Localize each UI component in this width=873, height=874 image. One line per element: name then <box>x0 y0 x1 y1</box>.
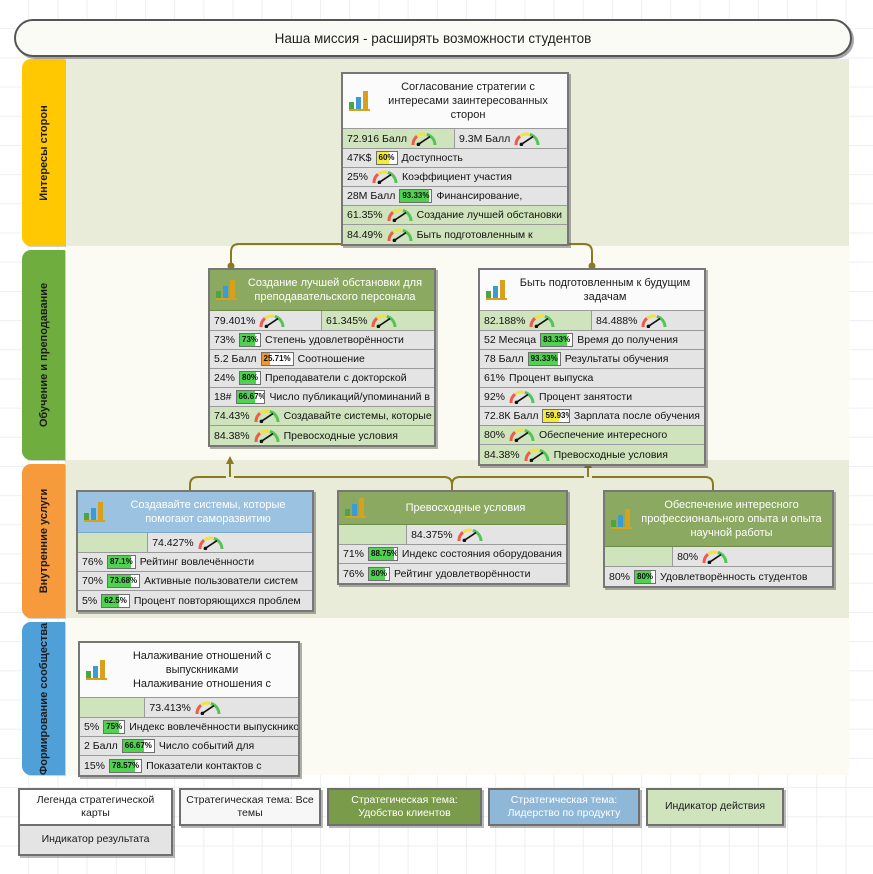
metric-row[interactable]: 84.38%Превосходные условия <box>480 445 704 464</box>
gauge-icon <box>259 314 285 328</box>
metric-row[interactable]: 73%73%Степень удовлетворённости <box>210 331 434 350</box>
gauge-icon <box>509 390 535 404</box>
metric-value: 71% <box>343 548 364 560</box>
metric-value: 84.488% <box>596 315 637 327</box>
gauge-icon <box>254 409 280 423</box>
metric-row[interactable]: 70%73.68%Активные пользователи систем <box>78 572 312 591</box>
metric-row[interactable]: 5.2 Балл25.71%Соотношение <box>210 350 434 369</box>
metric-label: Степень удовлетворённости <box>265 334 404 346</box>
metric-value: 72.916 Балл <box>347 133 407 145</box>
perspective-band-internal[interactable]: Внутренние услуги <box>22 464 65 618</box>
metric-value: 74.427% <box>152 537 193 549</box>
metric-row[interactable]: 2 Балл66.67%Число событий для <box>80 737 298 756</box>
metric-row[interactable]: 74.43%Создавайте системы, которые <box>210 407 434 426</box>
metric-label: Активные пользователи систем <box>144 575 298 587</box>
legend-label: Индикатор результата <box>42 833 150 846</box>
metric-value: 84.375% <box>411 529 452 541</box>
metric-value: 78 Балл <box>484 353 524 365</box>
metric-row[interactable]: 80%Обеспечение интересного <box>480 426 704 445</box>
metric-row[interactable]: 84.38%Превосходные условия <box>210 426 434 445</box>
perspective-band-stakeholders[interactable]: Интересы сторон <box>22 59 65 246</box>
card-header: Обеспечение интересного профессиональног… <box>605 492 832 547</box>
metric-value: 82.188% <box>484 315 525 327</box>
metric-label: Зарплата после обучения <box>574 410 700 422</box>
metric-label: Удовлетворённость студентов <box>660 571 807 583</box>
legend-label: Стратегическая тема: Лидерство по продук… <box>495 794 633 820</box>
metric-value: 84.38% <box>214 430 250 442</box>
row-band-learning <box>65 246 849 460</box>
metric-label: Результаты обучения <box>565 353 669 365</box>
metric-cell: 73.413% <box>145 698 298 717</box>
legend-label: Стратегическая тема: Удобство клиентов <box>334 794 475 820</box>
metric-badge: 25.71% <box>261 352 294 366</box>
metric-value: 74.43% <box>214 410 250 422</box>
perspective-band-learning[interactable]: Обучение и преподавание <box>22 250 65 460</box>
card-title: Согласование стратегии с интересами заин… <box>376 80 560 122</box>
metric-badge: 59.93% <box>542 409 569 423</box>
metric-row[interactable]: 78 Балл93.33%Результаты обучения <box>480 350 704 369</box>
metric-label: Индекс состояния оборудования <box>402 548 562 560</box>
card-header: Создавайте системы, которые помогают сам… <box>78 492 312 533</box>
gauge-icon <box>387 228 413 242</box>
gauge-icon <box>524 448 550 462</box>
gauge-icon <box>371 314 397 328</box>
metric-label: Соотношение <box>298 353 365 365</box>
metric-badge: 75% <box>103 720 125 734</box>
metric-cell: 61.345% <box>322 311 434 330</box>
metric-value: 80% <box>484 429 505 441</box>
metric-row[interactable]: 71%88.75%Индекс состояния оборудования <box>339 545 566 564</box>
card-title: Быть подготовленным к будущим задачам <box>513 276 697 304</box>
card-title: Создание лучшей обстановки для преподава… <box>243 276 427 304</box>
metric-row[interactable]: 24%80%Преподаватели с докторской <box>210 369 434 388</box>
metric-value: 5% <box>84 721 99 733</box>
gauge-icon <box>529 314 555 328</box>
bar-chart-icon <box>611 509 633 529</box>
metric-cell <box>80 698 145 717</box>
metric-label: Создание лучшей обстановки <box>417 209 562 221</box>
metric-badge: 93.33% <box>528 352 561 366</box>
metric-row[interactable]: 80% <box>605 547 832 567</box>
card-header: Быть подготовленным к будущим задачам <box>480 270 704 311</box>
metric-row[interactable]: 5%75%Индекс вовлечённости выпускников <box>80 718 298 737</box>
perspective-label-learning: Обучение и преподавание <box>38 283 50 427</box>
metric-row[interactable]: 61.35%Создание лучшей обстановки <box>343 206 567 225</box>
card-better-environment-faculty[interactable]: Создание лучшей обстановки для преподава… <box>208 268 436 447</box>
metric-cell <box>605 547 673 566</box>
card-title: Превосходные условия <box>372 501 559 515</box>
metric-badge: 87.1% <box>107 555 136 569</box>
metric-row[interactable]: 28M Балл93.33%Финансирование, <box>343 187 567 206</box>
metric-row[interactable]: 80%80%Удовлетворённость студентов <box>605 567 832 586</box>
metric-label: Рейтинг вовлечённости <box>140 556 254 568</box>
metric-value: 92% <box>484 391 505 403</box>
perspective-band-community[interactable]: Формирование сообщества <box>22 622 65 775</box>
card-self-development-systems[interactable]: Создавайте системы, которые помогают сам… <box>76 490 314 612</box>
card-header: Создание лучшей обстановки для преподава… <box>210 270 434 311</box>
metric-row[interactable]: 47K$60%Доступность <box>343 149 567 168</box>
metric-label: Обеспечение интересного <box>539 429 667 441</box>
card-interesting-professional-experience[interactable]: Обеспечение интересного профессиональног… <box>603 490 834 588</box>
gauge-icon <box>641 314 667 328</box>
metric-badge: 73% <box>239 333 261 347</box>
metric-label: Процент выпуска <box>509 372 593 384</box>
metric-value: 80% <box>609 571 630 583</box>
metric-row[interactable]: 61%Процент выпуска <box>480 369 704 388</box>
bar-chart-icon <box>349 91 371 111</box>
metric-row[interactable]: 15%78.57%Показатели контактов с <box>80 756 298 775</box>
metric-cell: 84.375% <box>407 525 566 544</box>
metric-cell <box>339 525 407 544</box>
gauge-icon <box>457 528 483 542</box>
legend-item-result-indicator[interactable]: Индикатор результата <box>18 824 173 856</box>
metric-value: 84.38% <box>484 449 520 461</box>
gauge-icon <box>411 132 437 146</box>
metric-value: 76% <box>82 556 103 568</box>
gauge-icon <box>514 132 540 146</box>
metric-row[interactable]: 52 Месяца83.33%Время до получения <box>480 331 704 350</box>
metric-value: 61.345% <box>326 315 367 327</box>
gauge-icon <box>372 170 398 184</box>
metric-badge: 62.5% <box>101 594 130 608</box>
metric-label: Процент повторяющихся проблем <box>134 595 301 607</box>
bar-chart-icon <box>216 280 238 300</box>
gauge-icon <box>195 701 221 715</box>
metric-badge: 80% <box>368 567 390 581</box>
legend-item-theme-product-leadership[interactable]: Стратегическая тема: Лидерство по продук… <box>488 788 640 826</box>
metric-value: 15% <box>84 760 105 772</box>
legend-item-strategy-map[interactable]: Легенда стратегической карты <box>18 788 173 826</box>
metric-label: Показатели контактов с <box>146 760 261 772</box>
gauge-icon <box>387 208 413 222</box>
card-title: Обеспечение интересного профессиональног… <box>638 498 825 540</box>
metric-value: 73% <box>214 334 235 346</box>
metric-badge: 80% <box>239 371 261 385</box>
metric-label: Рейтинг удовлетворённости <box>394 568 530 580</box>
metric-badge: 66.67% <box>236 390 266 404</box>
metric-badge: 66.67% <box>122 739 155 753</box>
bar-chart-icon <box>84 502 106 522</box>
metric-value: 61% <box>484 372 505 384</box>
bar-chart-icon <box>345 498 367 518</box>
metric-badge: 88.75% <box>368 547 398 561</box>
legend-item-theme-all[interactable]: Стратегическая тема: Все темы <box>179 788 321 826</box>
metric-row[interactable]: 18#66.67%Число публикаций/упоминаний в <box>210 388 434 407</box>
card-alumni-relations[interactable]: Налаживание отношений с выпускникамиНала… <box>78 641 300 777</box>
metric-badge: 78.57% <box>109 759 142 773</box>
metric-value: 25% <box>347 171 368 183</box>
metric-row[interactable]: 72.916 Балл9.3M Балл <box>343 129 567 149</box>
metric-label: Число событий для <box>159 740 254 752</box>
metric-label: Число публикаций/упоминаний в <box>269 391 430 403</box>
metric-label: Доступность <box>402 152 463 164</box>
metric-value: 76% <box>343 568 364 580</box>
metric-value: 5.2 Балл <box>214 353 257 365</box>
metric-label: Преподаватели с докторской <box>265 372 407 384</box>
metric-badge: 73.68% <box>107 574 140 588</box>
metric-label: Превосходные условия <box>554 449 668 461</box>
card-header: Налаживание отношений с выпускникамиНала… <box>80 643 298 698</box>
gauge-icon <box>198 536 224 550</box>
metric-label: Время до получения <box>577 334 678 346</box>
metric-label: Финансирование, <box>436 190 522 202</box>
metric-row[interactable]: 82.188%84.488% <box>480 311 704 331</box>
metric-row[interactable]: 5%62.5%Процент повторяющихся проблем <box>78 591 312 610</box>
perspective-label-community: Формирование сообщества <box>38 622 50 774</box>
metric-row[interactable]: 79.401%61.345% <box>210 311 434 331</box>
card-excellent-conditions[interactable]: Превосходные условия84.375%71%88.75%Инде… <box>337 490 568 585</box>
metric-label: Индекс вовлечённости выпускников <box>129 721 298 733</box>
metric-row[interactable]: 84.375% <box>339 525 566 545</box>
bar-chart-icon <box>486 280 508 300</box>
metric-row[interactable]: 76%87.1%Рейтинг вовлечённости <box>78 553 312 572</box>
metric-value: 24% <box>214 372 235 384</box>
card-header: Превосходные условия <box>339 492 566 525</box>
metric-row[interactable]: 84.49%Быть подготовленным к <box>343 225 567 244</box>
metric-badge: 83.33% <box>540 333 573 347</box>
strategy-map-canvas: Наша миссия - расширять возможности студ… <box>0 0 873 874</box>
card-prepared-future-tasks[interactable]: Быть подготовленным к будущим задачам82.… <box>478 268 706 466</box>
metric-row[interactable]: 76%80%Рейтинг удовлетворённости <box>339 564 566 583</box>
metric-value: 47K$ <box>347 152 372 164</box>
metric-row[interactable]: 25%Коэффициент участия <box>343 168 567 187</box>
metric-value: 18# <box>214 391 232 403</box>
card-title: Создавайте системы, которые помогают сам… <box>111 498 305 526</box>
metric-value: 84.49% <box>347 229 383 241</box>
card-stakeholder-alignment[interactable]: Согласование стратегии с интересами заин… <box>341 72 569 246</box>
perspective-label-internal: Внутренние услуги <box>38 489 50 594</box>
metric-value: 5% <box>82 595 97 607</box>
card-header: Согласование стратегии с интересами заин… <box>343 74 567 129</box>
metric-cell: 72.916 Балл <box>343 129 455 148</box>
metric-cell: 9.3M Балл <box>455 129 567 148</box>
metric-value: 70% <box>82 575 103 587</box>
metric-label: Процент занятости <box>539 391 632 403</box>
metric-cell: 79.401% <box>210 311 322 330</box>
legend-item-action-indicator[interactable]: Индикатор действия <box>646 788 784 826</box>
metric-value: 79.401% <box>214 315 255 327</box>
metric-cell <box>78 533 148 552</box>
mission-text: Наша миссия - расширять возможности студ… <box>275 31 592 46</box>
legend-label: Стратегическая тема: Все темы <box>186 794 314 820</box>
metric-cell: 84.488% <box>592 311 704 330</box>
metric-cell: 74.427% <box>148 533 312 552</box>
metric-row[interactable]: 73.413% <box>80 698 298 718</box>
perspective-label-stakeholders: Интересы сторон <box>38 105 50 200</box>
metric-value: 28M Балл <box>347 190 395 202</box>
legend-label: Индикатор действия <box>665 800 765 813</box>
metric-value: 2 Балл <box>84 740 118 752</box>
legend-label: Легенда стратегической карты <box>25 794 166 820</box>
metric-badge: 93.33% <box>399 189 432 203</box>
card-title: Налаживание отношений с выпускникамиНала… <box>113 649 291 691</box>
metric-label: Быть подготовленным к <box>417 229 533 241</box>
mission-banner: Наша миссия - расширять возможности студ… <box>14 19 852 57</box>
metric-badge: 80% <box>634 570 656 584</box>
metric-row[interactable]: 72.8К Балл59.93%Зарплата после обучения <box>480 407 704 426</box>
metric-cell: 80% <box>673 547 832 566</box>
gauge-icon <box>702 550 728 564</box>
metric-row[interactable]: 74.427% <box>78 533 312 553</box>
metric-value: 72.8К Балл <box>484 410 538 422</box>
gauge-icon <box>254 429 280 443</box>
bar-chart-icon <box>86 660 108 680</box>
metric-label: Создавайте системы, которые <box>284 410 432 422</box>
metric-row[interactable]: 92%Процент занятости <box>480 388 704 407</box>
metric-value: 80% <box>677 551 698 563</box>
metric-value: 52 Месяца <box>484 334 536 346</box>
metric-value: 9.3M Балл <box>459 133 510 145</box>
legend-item-theme-customer-convenience[interactable]: Стратегическая тема: Удобство клиентов <box>327 788 482 826</box>
metric-badge: 60% <box>376 151 398 165</box>
metric-label: Превосходные условия <box>284 430 398 442</box>
metric-cell: 82.188% <box>480 311 592 330</box>
metric-value: 61.35% <box>347 209 383 221</box>
metric-label: Коэффициент участия <box>402 171 512 183</box>
metric-value: 73.413% <box>149 702 190 714</box>
gauge-icon <box>509 428 535 442</box>
